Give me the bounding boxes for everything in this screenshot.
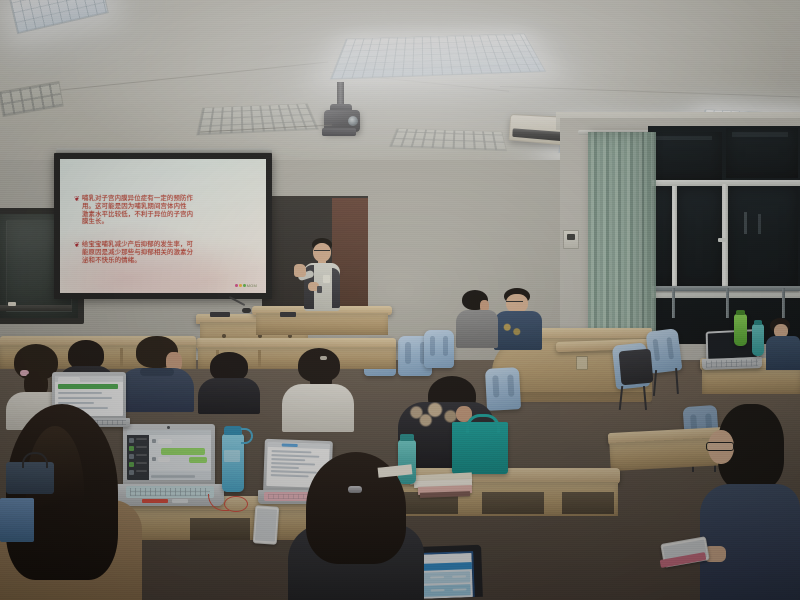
smartphone-white-left[interactable]: [253, 505, 280, 545]
student-black-coat: [198, 352, 260, 414]
window-pane-main-2: [676, 188, 722, 288]
bottle-label: [224, 450, 240, 462]
desk-far-right-front: [702, 368, 800, 394]
hair-clip-silver: [348, 486, 362, 493]
desk-cubby: [482, 492, 544, 514]
slide-logo: MOM: [235, 283, 257, 288]
lectern-device-2: [280, 312, 296, 317]
tote-handle: [466, 414, 500, 433]
window-mullion: [672, 186, 677, 290]
page-banner-green: [58, 384, 118, 389]
window-handle[interactable]: [718, 238, 727, 242]
rail-post: [726, 288, 729, 318]
backpack-dark: [619, 349, 654, 386]
projection-screen: ❦哺乳对子宫内膜异位症有一定的预防作 用。这可能是因为哺乳期间宫体内性 激素水平…: [60, 159, 266, 293]
student-navy-hoodie: [118, 336, 194, 412]
water-bottle-teal: [752, 324, 764, 356]
window-mullion: [722, 184, 728, 290]
rail-post: [672, 288, 675, 318]
desk-outlet[interactable]: [576, 356, 588, 370]
microphone-head: [242, 308, 251, 313]
lectern-device: [210, 312, 230, 317]
presenter: [296, 238, 348, 316]
slide-bullet-1: ❦哺乳对子宫内膜异位症有一定的预防作 用。这可能是因为哺乳期间宫体内性 激素水平…: [74, 195, 260, 226]
student-blue-camo: [492, 288, 544, 350]
bottle-cap-teal: [754, 320, 762, 325]
webcam-icon: [167, 426, 170, 429]
water-bottle-green: [734, 314, 747, 346]
chat-bubble-outgoing: [189, 457, 207, 463]
laptop-sticker-2: [172, 499, 188, 503]
laptop-sticker: [142, 499, 168, 503]
presenter-jacket-dark-panel-right: [332, 268, 340, 308]
student-white-coat: [282, 348, 354, 432]
presenter-badge: [323, 275, 330, 283]
hoodie-collar: [140, 368, 174, 376]
student-glasses: [506, 301, 523, 305]
slide-bullet-2: ❦给宝宝哺乳减少产后抑郁的发生率，可 能原因是减少那些与抑郁相关的激素分 泌和不…: [74, 241, 260, 264]
projection-screen-frame: ❦哺乳对子宫内膜异位症有一定的预防作 用。这可能是因为哺乳期间宫体内性 激素水平…: [54, 153, 272, 299]
bottle-cap-teal-fg: [400, 434, 414, 441]
presenter-hand-raised: [294, 264, 306, 277]
front-desk-front: [256, 313, 388, 335]
bag-handle: [22, 452, 48, 468]
presenter-lanyard: [317, 286, 322, 293]
desk-cubby: [562, 492, 614, 514]
chat-bubble-outgoing: [161, 448, 205, 455]
bottle-cap-green: [736, 310, 745, 315]
classroom-photo: ❦哺乳对子宫内膜异位症有一定的预防作 用。这可能是因为哺乳期间宫体内性 激素水平…: [0, 0, 800, 600]
window-pane-main-3: [728, 186, 798, 290]
chair-mid-3[interactable]: [424, 330, 454, 368]
student-glasses: [706, 442, 734, 451]
hair-clip: [320, 356, 327, 360]
curtain-edge[interactable]: [644, 132, 656, 336]
rail-post: [782, 288, 785, 318]
student-glasses-navy: [700, 404, 800, 600]
bottle-cap-blue: [224, 426, 242, 435]
curtain-main[interactable]: [588, 132, 652, 346]
laptop-edge-bottom-left: [0, 498, 34, 542]
wall-outlet-plate: [563, 230, 579, 249]
window-wall: [648, 126, 800, 344]
desk-cubby-left: [190, 518, 250, 540]
student-top-right: [766, 318, 800, 370]
student-grey-jacket: [454, 290, 498, 348]
laptop-right-desk-base[interactable]: [702, 357, 762, 370]
chalk: [8, 302, 16, 306]
jacket-pattern: [500, 320, 524, 338]
presenter-glasses: [314, 250, 330, 254]
